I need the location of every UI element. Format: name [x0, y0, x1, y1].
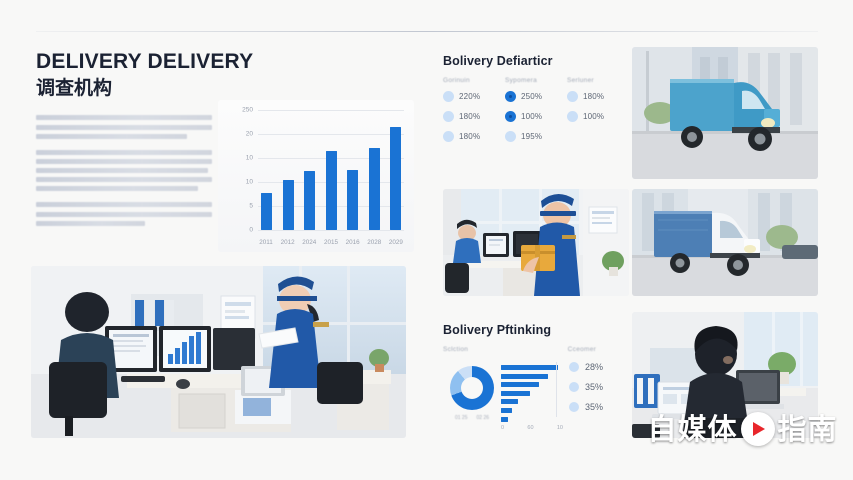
horizontal-bar-ticks: 0 60 10 [501, 425, 563, 431]
ranking-pill[interactable]: 35% [569, 402, 629, 412]
y-tick: 10 [246, 155, 253, 162]
option-item[interactable]: 180% [567, 91, 629, 102]
pill-dot-icon [569, 402, 579, 412]
courier-scene-illustration [443, 189, 629, 296]
option-item[interactable]: 100% [505, 111, 567, 122]
radio-selected-icon[interactable] [505, 91, 516, 102]
horizontal-bar-chart: 0 60 10 [501, 362, 563, 431]
radio-unselected-icon[interactable] [505, 131, 516, 142]
top-divider [36, 31, 818, 32]
pill-value: 35% [585, 402, 603, 412]
radio-unselected-icon[interactable] [567, 91, 578, 102]
radio-unselected-icon[interactable] [443, 91, 454, 102]
ranking-heading: Bolivery Pftinking [443, 323, 629, 337]
bar-item [326, 110, 337, 230]
option-item[interactable]: 220% [443, 91, 505, 102]
h-tick: 10 [557, 425, 563, 431]
y-tick: 5 [249, 203, 253, 210]
x-tick: 2015 [323, 239, 339, 246]
option-value: 220% [459, 92, 480, 101]
pill-value: 28% [585, 362, 603, 372]
option-column-headers: Gorinuin Sypomera Serluner [443, 77, 629, 84]
bar [326, 151, 337, 230]
pill-value: 35% [585, 382, 603, 392]
option-value: 180% [459, 132, 480, 141]
x-tick: 2029 [388, 239, 404, 246]
y-tick: 20 [246, 131, 253, 138]
column-label: Gorinuin [443, 77, 505, 84]
x-tick: 2011 [258, 239, 274, 246]
bar [283, 180, 294, 230]
bar-axis-line [556, 362, 557, 417]
ranking-pill[interactable]: 35% [569, 382, 629, 392]
h-bar [501, 399, 518, 404]
option-item[interactable]: 180% [443, 131, 505, 142]
option-value: 250% [521, 92, 542, 101]
photo-office-main [31, 266, 406, 438]
radio-selected-icon[interactable] [505, 111, 516, 122]
option-item[interactable]: 250% [505, 91, 567, 102]
paragraph-2 [36, 150, 212, 192]
option-grid[interactable]: 220%250%180%180%100%100%180%195% [443, 91, 629, 151]
delivery-definition-section: Bolivery Defiarticr Gorinuin Sypomera Se… [443, 54, 629, 151]
h-bar [501, 391, 530, 396]
page-title: DELIVERY DELIVERY [36, 50, 416, 74]
option-value: 180% [583, 92, 604, 101]
bar [369, 148, 380, 230]
photo-white-truck [632, 189, 818, 296]
donut-legend-item: 02 26 [477, 415, 490, 422]
column-label: Sypomera [505, 77, 567, 84]
bar-item [283, 110, 294, 230]
bar [347, 170, 358, 230]
ranking-pill-list[interactable]: 28% 35% 35% [563, 362, 629, 422]
x-axis-labels: 2011201220242015201620282029 [258, 239, 404, 246]
y-tick: 10 [246, 179, 253, 186]
h-tick: 60 [527, 425, 533, 431]
ranking-section: Bolivery Pftinking Sclction Cceomer 01 2… [443, 323, 629, 431]
y-tick: 250 [242, 107, 253, 114]
h-tick: 0 [501, 425, 504, 431]
option-value: 100% [583, 112, 604, 121]
bar-series [258, 110, 404, 230]
h-bar [501, 417, 508, 422]
page-subtitle-cn: 调查机构 [36, 77, 416, 100]
ranking-visuals: 01 25 02 26 0 60 10 28% [443, 362, 629, 431]
bar-item [390, 110, 401, 230]
donut-ring [450, 366, 494, 410]
white-truck-illustration [632, 189, 818, 296]
option-value: 180% [459, 112, 480, 121]
column-label: Serluner [567, 77, 629, 84]
ranking-label-right: Cceomer [562, 346, 629, 353]
radio-unselected-icon[interactable] [443, 111, 454, 122]
paragraph-3 [36, 202, 212, 225]
photo-courier-box [443, 189, 629, 296]
x-tick: 2016 [345, 239, 361, 246]
donut-chart: 01 25 02 26 [443, 362, 501, 422]
h-bar [501, 374, 548, 379]
radio-unselected-icon[interactable] [567, 111, 578, 122]
office-scene-illustration [31, 266, 406, 438]
bar [304, 171, 315, 230]
watermark: 自媒体 指南 [640, 408, 845, 450]
h-bar [501, 365, 558, 370]
bar-chart: 250 20 10 10 5 0 20112012202420152016202… [218, 100, 414, 252]
ranking-sub-labels: Sclction Cceomer [443, 346, 629, 353]
option-value: 100% [521, 112, 542, 121]
photo-blue-truck [632, 47, 818, 179]
option-item[interactable]: 180% [443, 111, 505, 122]
bar-chart-plot: 250 20 10 10 5 0 [258, 110, 404, 230]
radio-unselected-icon[interactable] [443, 131, 454, 142]
option-item[interactable]: 195% [505, 131, 567, 142]
donut-legend: 01 25 02 26 [443, 415, 501, 422]
h-bar [501, 382, 539, 387]
horizontal-bar-series [501, 365, 563, 422]
ranking-pill[interactable]: 28% [569, 362, 629, 372]
option-item[interactable]: 100% [567, 111, 629, 122]
ranking-label-left: Sclction [443, 346, 500, 353]
play-button-icon [741, 412, 775, 446]
body-copy [36, 115, 212, 226]
bar [390, 127, 401, 230]
h-bar [501, 408, 512, 413]
x-tick: 2024 [301, 239, 317, 246]
option-value: 195% [521, 132, 542, 141]
bar-item [304, 110, 315, 230]
blue-truck-illustration [632, 47, 818, 179]
bar [261, 193, 272, 230]
bar-item [347, 110, 358, 230]
poster-page: DELIVERY DELIVERY 调查机构 [0, 0, 853, 480]
pill-dot-icon [569, 382, 579, 392]
y-tick: 0 [249, 227, 253, 234]
paragraph-1 [36, 115, 212, 138]
bar-item [369, 110, 380, 230]
donut-legend-item: 01 25 [455, 415, 468, 422]
watermark-text-right: 指南 [778, 415, 838, 444]
section-heading: Bolivery Defiarticr [443, 54, 629, 68]
bar-item [261, 110, 272, 230]
pill-dot-icon [569, 362, 579, 372]
x-tick: 2012 [280, 239, 296, 246]
x-tick: 2028 [366, 239, 382, 246]
watermark-text-left: 自媒体 [647, 415, 737, 444]
